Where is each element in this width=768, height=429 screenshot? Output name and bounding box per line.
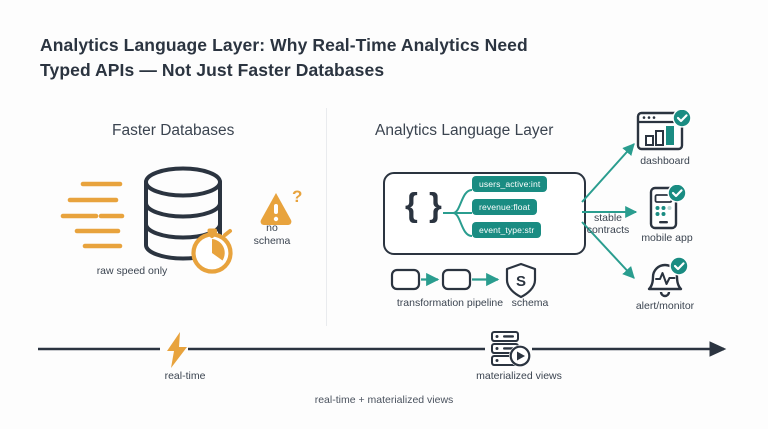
svg-text:?: ? <box>292 187 302 206</box>
schema-caption: schema <box>512 297 549 310</box>
no-schema-caption-line-2: schema <box>254 235 291 248</box>
mobile-phone-icon <box>642 185 690 231</box>
faster-databases-illustration: ? <box>60 165 310 275</box>
transformation-pipeline-illustration: S <box>390 262 552 300</box>
no-schema-caption-line-1: no <box>254 222 291 235</box>
left-panel-heading: Faster Databases <box>112 122 234 140</box>
schema-branch-connector <box>443 185 475 241</box>
server-stack-play-icon <box>489 330 535 368</box>
lightning-bolt-icon <box>164 331 190 369</box>
right-panel-heading: Analytics Language Layer <box>375 122 553 140</box>
timeline-axis <box>36 335 736 363</box>
timeline-realtime-label: real-time <box>165 370 206 383</box>
page-title: Analytics Language Layer: Why Real-Time … <box>40 33 640 83</box>
transformation-pipeline-caption: transformation pipeline <box>397 297 503 310</box>
json-braces-glyph: { } <box>405 186 443 224</box>
stopwatch-icon <box>185 223 239 277</box>
svg-text:S: S <box>516 273 526 290</box>
stable-contracts-line-2: contracts <box>587 224 630 236</box>
bell-pulse-icon <box>640 257 692 301</box>
stable-contracts-line-1: stable <box>587 212 630 224</box>
stable-contracts-label: stable contracts <box>587 212 630 236</box>
raw-speed-caption: raw speed only <box>97 265 168 278</box>
dashboard-browser-chart-icon <box>636 110 694 154</box>
timeline-materialized-views-label: materialized views <box>476 370 562 383</box>
panel-divider <box>326 108 327 326</box>
type-pill-event-type[interactable]: event_type:str <box>472 222 541 238</box>
alert-monitor-caption: alert/monitor <box>636 300 694 313</box>
type-pill-users-active[interactable]: users_active:int <box>472 176 547 192</box>
page-title-line-2: Typed APIs — Not Just Faster Databases <box>40 58 640 83</box>
mobile-app-caption: mobile app <box>641 232 692 245</box>
diagram-canvas: Analytics Language Layer: Why Real-Time … <box>0 0 768 429</box>
type-pill-revenue[interactable]: revenue:float <box>472 199 537 215</box>
dashboard-caption: dashboard <box>640 155 690 168</box>
arrow-to-dashboard <box>582 144 634 202</box>
timeline-bottom-caption: real-time + materialized views <box>315 394 454 407</box>
page-title-line-1: Analytics Language Layer: Why Real-Time … <box>40 33 640 58</box>
no-schema-caption: no schema <box>254 222 291 248</box>
speed-lines-icon <box>60 175 136 255</box>
